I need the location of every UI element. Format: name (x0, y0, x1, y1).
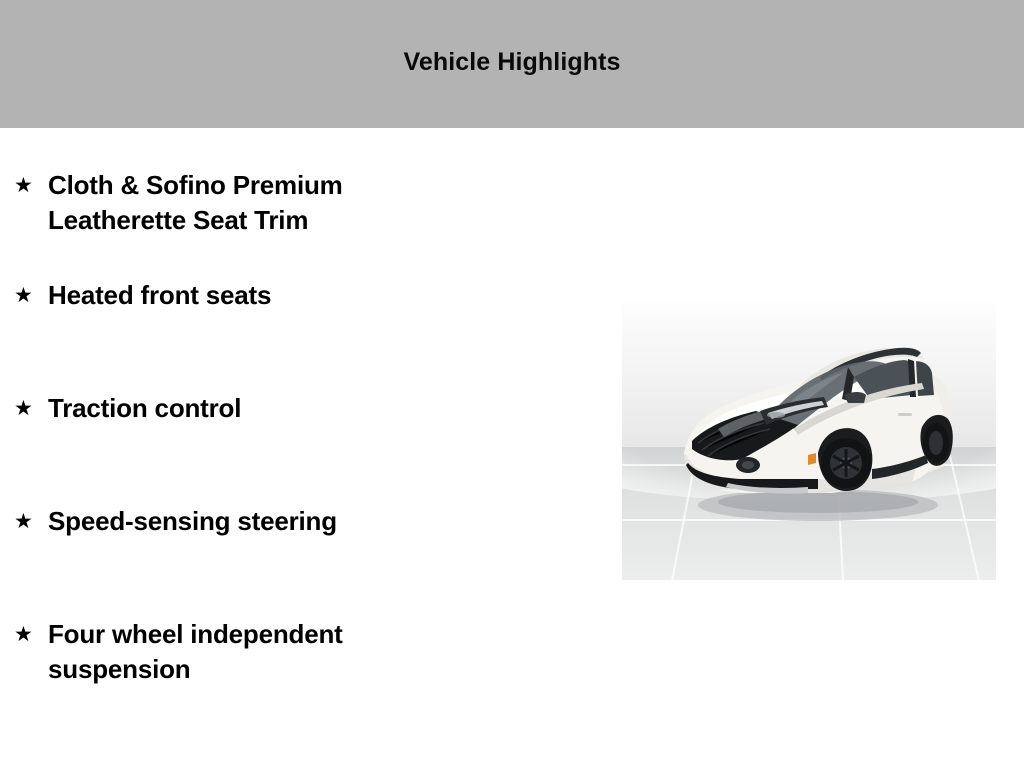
vehicle-highlights-list: ★ Cloth & Sofino Premium Leatherette Sea… (0, 128, 560, 730)
star-bullet-icon: ★ (14, 391, 48, 425)
highlight-label: Traction control (48, 391, 241, 426)
highlight-label: Four wheel independent suspension (48, 617, 468, 687)
star-bullet-icon: ★ (14, 168, 48, 202)
vehicle-photo (622, 303, 996, 580)
content-area: ★ Cloth & Sofino Premium Leatherette Sea… (0, 128, 1024, 768)
list-item: ★ Traction control (0, 391, 560, 504)
suv-illustration (622, 303, 996, 580)
list-item: ★ Cloth & Sofino Premium Leatherette Sea… (0, 128, 560, 278)
list-item: ★ Speed-sensing steering (0, 504, 560, 617)
header-band: Vehicle Highlights (0, 0, 1024, 128)
list-item: ★ Heated front seats (0, 278, 560, 391)
highlight-label: Speed-sensing steering (48, 504, 337, 539)
list-item: ★ Four wheel independent suspension (0, 617, 560, 730)
star-bullet-icon: ★ (14, 504, 48, 538)
highlight-label: Cloth & Sofino Premium Leatherette Seat … (48, 168, 468, 238)
highlight-label: Heated front seats (48, 278, 271, 313)
page-title: Vehicle Highlights (403, 50, 620, 75)
star-bullet-icon: ★ (14, 278, 48, 312)
star-bullet-icon: ★ (14, 617, 48, 651)
